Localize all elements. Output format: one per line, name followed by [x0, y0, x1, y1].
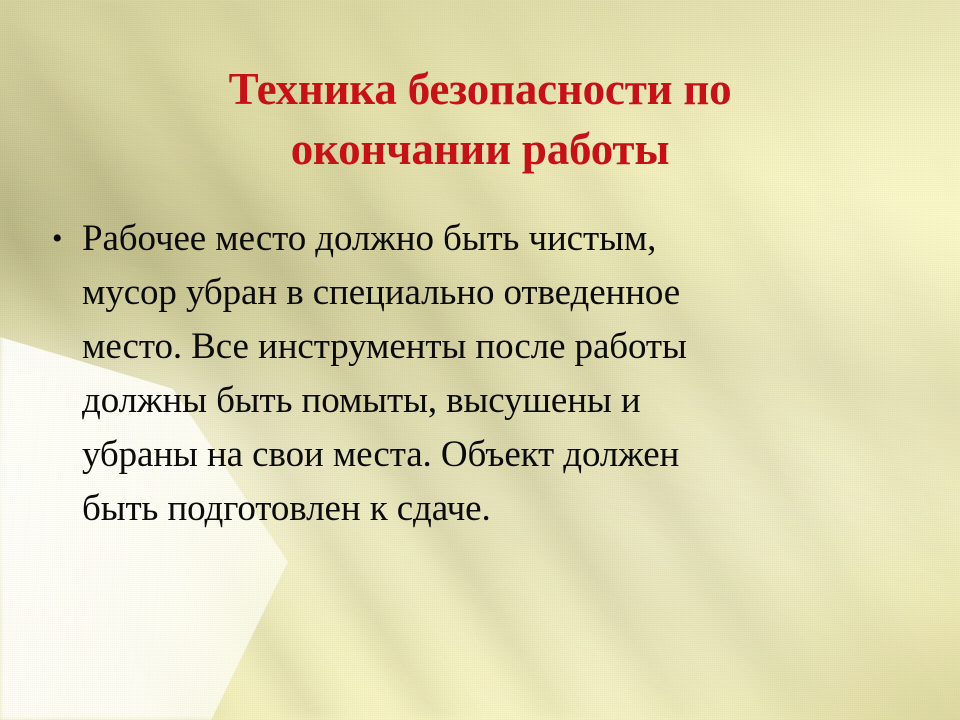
slide-content: Техника безопасности по окончании работы… — [0, 0, 960, 720]
bullet-text: Рабочее место должно быть чистым, мусор … — [82, 212, 742, 536]
presentation-slide: Техника безопасности по окончании работы… — [0, 0, 960, 720]
slide-body: • Рабочее место должно быть чистым, мусо… — [52, 212, 742, 536]
slide-title: Техника безопасности по окончании работы — [70, 60, 890, 180]
list-item: • Рабочее место должно быть чистым, мусо… — [52, 212, 742, 536]
bullet-dot-icon: • — [52, 212, 82, 266]
